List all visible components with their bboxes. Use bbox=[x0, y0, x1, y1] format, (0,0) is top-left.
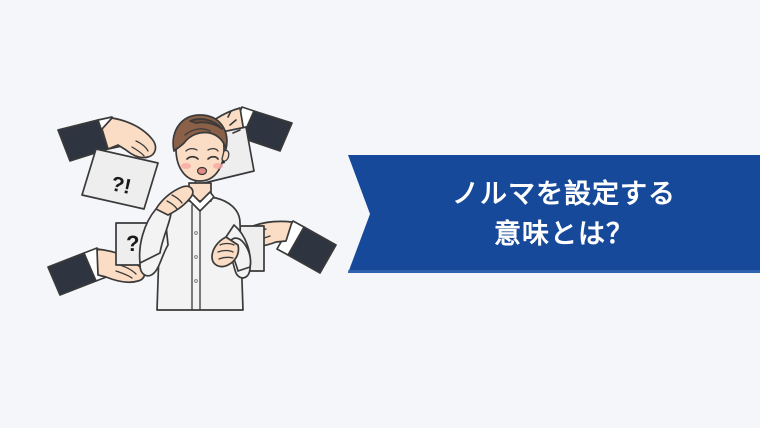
mouth bbox=[198, 168, 207, 175]
cheek-left bbox=[181, 163, 191, 169]
illustration-confused-businessman: .ol { stroke:#3a3a3a; stroke-width:1.7; … bbox=[40, 105, 340, 320]
hand-card-top-left: ?! bbox=[58, 117, 158, 209]
cheek-right bbox=[213, 163, 223, 169]
banner-ribbon-shape bbox=[348, 155, 760, 273]
title-banner: ノルマを設定する 意味とは？ bbox=[348, 155, 760, 273]
image-canvas: .ol { stroke:#3a3a3a; stroke-width:1.7; … bbox=[0, 0, 760, 428]
